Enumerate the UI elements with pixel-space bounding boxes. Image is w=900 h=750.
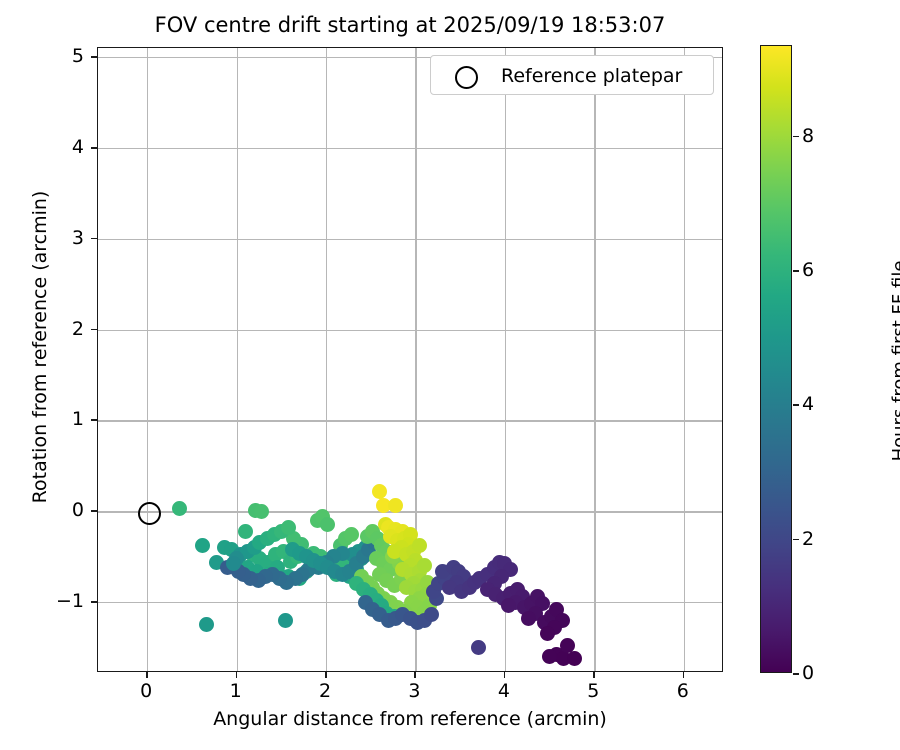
colorbar-tick [793, 673, 799, 675]
scatter-point [344, 527, 359, 542]
y-tick-label: 0 [38, 499, 84, 521]
x-tick [504, 672, 506, 678]
scatter-point [471, 640, 486, 655]
x-tick [236, 672, 238, 678]
chart-title: FOV centre drift starting at 2025/09/19 … [0, 12, 820, 38]
scatter-point [278, 613, 293, 628]
y-tick [91, 56, 97, 58]
x-tick-label: 5 [573, 680, 613, 702]
figure: FOV centre drift starting at 2025/09/19 … [0, 0, 900, 750]
colorbar-tick-label: 0 [802, 662, 814, 684]
gridline-vertical [684, 48, 685, 671]
scatter-point [226, 556, 241, 571]
reference-platepar-marker [138, 502, 161, 525]
gridline-horizontal [98, 330, 722, 331]
scatter-point [372, 484, 387, 499]
colorbar [760, 45, 792, 673]
y-tick-label: 1 [38, 408, 84, 430]
scatter-point [424, 607, 439, 622]
gridline-horizontal [98, 239, 722, 240]
x-tick-label: 6 [663, 680, 703, 702]
x-tick [325, 672, 327, 678]
y-tick-label: 5 [38, 45, 84, 67]
colorbar-gradient [761, 46, 791, 672]
colorbar-label: Hours from first FF file [889, 161, 900, 561]
x-tick-label: 0 [126, 680, 166, 702]
gridline-horizontal [98, 420, 722, 421]
plot-area [97, 47, 723, 672]
colorbar-tick-label: 8 [802, 125, 814, 147]
y-tick-label: −1 [38, 590, 84, 612]
x-tick-label: 1 [216, 680, 256, 702]
scatter-point [540, 626, 555, 641]
scatter-point [195, 538, 210, 553]
legend: Reference platepar [430, 55, 714, 95]
y-tick [91, 238, 97, 240]
x-tick [146, 672, 148, 678]
scatter-point [199, 617, 214, 632]
scatter-point [172, 501, 187, 516]
y-tick-label: 4 [38, 136, 84, 158]
x-tick [593, 672, 595, 678]
x-tick-label: 2 [305, 680, 345, 702]
colorbar-tick-label: 6 [802, 259, 814, 281]
y-tick [91, 147, 97, 149]
colorbar-tick [793, 404, 799, 406]
y-tick [91, 329, 97, 331]
x-tick-label: 3 [394, 680, 434, 702]
x-axis-label: Angular distance from reference (arcmin) [0, 707, 820, 731]
colorbar-tick [793, 539, 799, 541]
x-tick-label: 4 [484, 680, 524, 702]
scatter-point [521, 611, 536, 626]
gridline-horizontal [98, 148, 722, 149]
y-tick [91, 419, 97, 421]
x-tick [683, 672, 685, 678]
legend-label-reference-platepar: Reference platepar [501, 64, 682, 88]
scatter-point [254, 504, 269, 519]
gridline-vertical [147, 48, 148, 671]
scatter-point [417, 558, 432, 573]
gridline-vertical [594, 48, 595, 671]
colorbar-tick [793, 270, 799, 272]
legend-marker-reference-platepar [455, 66, 478, 89]
scatter-point [320, 517, 335, 532]
colorbar-tick-label: 4 [802, 393, 814, 415]
colorbar-tick [793, 136, 799, 138]
colorbar-tick-label: 2 [802, 528, 814, 550]
scatter-point [501, 598, 516, 613]
scatter-point [567, 651, 582, 666]
y-tick-label: 3 [38, 227, 84, 249]
gridline-horizontal [98, 511, 722, 512]
scatter-point [412, 538, 427, 553]
y-tick [91, 510, 97, 512]
scatter-point [238, 524, 253, 539]
x-tick [414, 672, 416, 678]
y-tick [91, 601, 97, 603]
gridline-vertical [326, 48, 327, 671]
y-tick-label: 2 [38, 318, 84, 340]
